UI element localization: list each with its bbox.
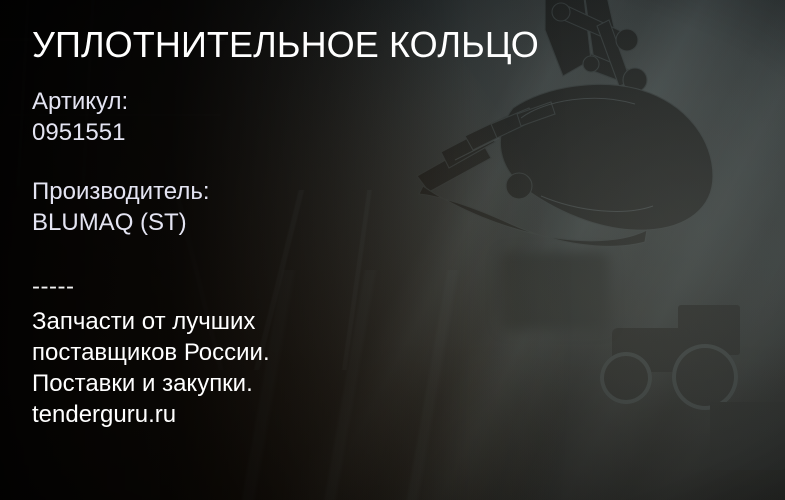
machine-silhouette-crate-right <box>710 402 785 470</box>
tagline-block: Запчасти от лучших поставщиков России. П… <box>32 306 270 430</box>
sku-field: Артикул: 0951551 <box>32 86 128 148</box>
manufacturer-value: BLUMAQ (ST) <box>32 207 210 238</box>
tagline-line-3: Поставки и закупки. <box>32 368 270 399</box>
tagline-line-1: Запчасти от лучших <box>32 306 270 337</box>
sku-value: 0951551 <box>32 117 128 148</box>
tagline-line-2: поставщиков России. <box>32 337 270 368</box>
machine-silhouette-wheel-rear <box>672 344 738 410</box>
product-banner: УПЛОТНИТЕЛЬНОЕ КОЛЬЦО Артикул: 0951551 П… <box>0 0 785 500</box>
website-url: tenderguru.ru <box>32 399 270 430</box>
sku-label: Артикул: <box>32 86 128 117</box>
manufacturer-label: Производитель: <box>32 176 210 207</box>
divider-dashes: ----- <box>32 271 74 302</box>
banner-content: УПЛОТНИТЕЛЬНОЕ КОЛЬЦО Артикул: 0951551 П… <box>32 0 632 500</box>
manufacturer-field: Производитель: BLUMAQ (ST) <box>32 176 210 238</box>
page-title: УПЛОТНИТЕЛЬНОЕ КОЛЬЦО <box>32 24 539 66</box>
